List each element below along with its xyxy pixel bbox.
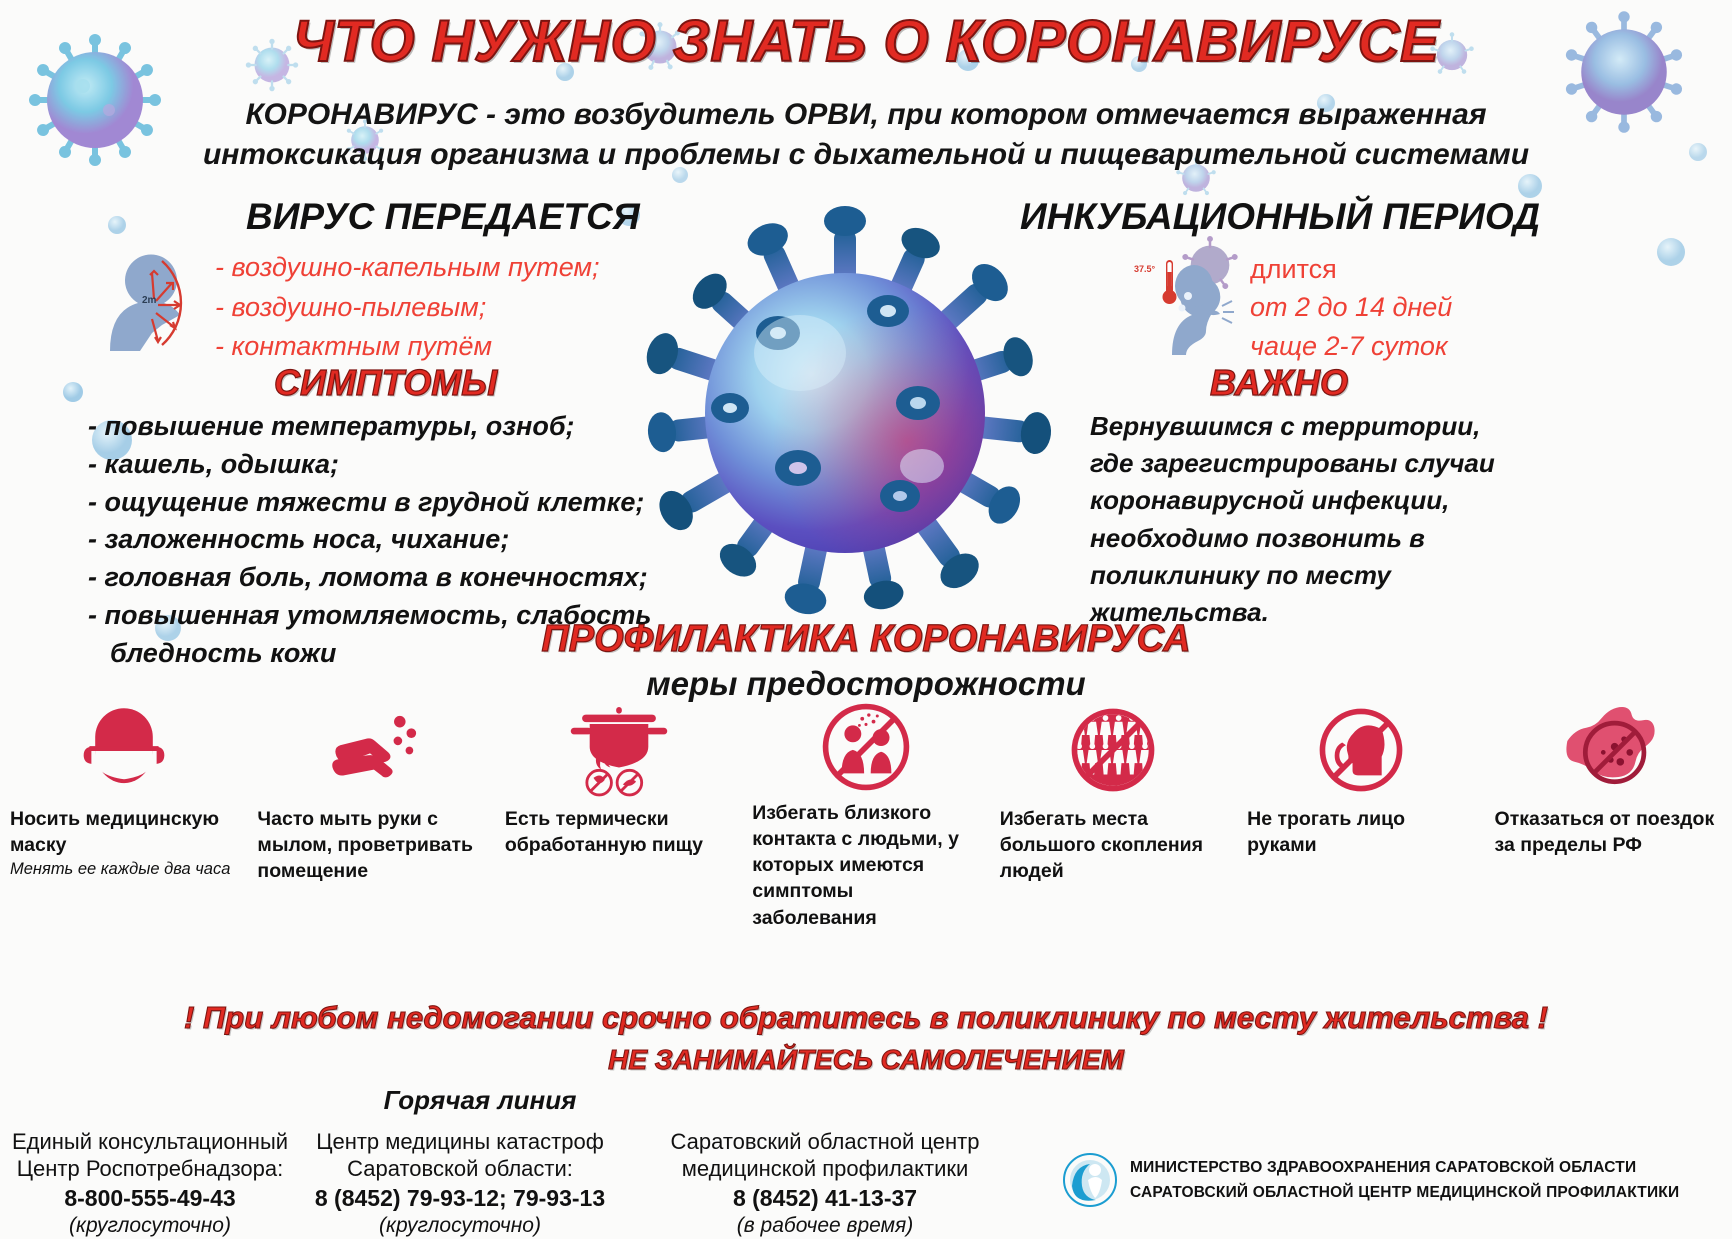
symptom-item: - кашель, одышка; [88,446,651,484]
head-distance-icon: 2m [90,243,215,353]
no-crowds-icon [1066,700,1160,800]
footer-contact-column: Саратовский областной центр медицинской … [640,1128,1010,1239]
footer-phone[interactable]: 8 (8452) 79-93-12; 79-93-13 [290,1184,630,1212]
footer-line: Саратовской области: [290,1155,630,1182]
important-line: Вернувшимся с территории, [1090,408,1495,445]
prevention-subheading: меры предосторожности [0,665,1732,703]
footer-line: Саратовский областной центр [640,1128,1010,1155]
prevention-item: Часто мыть руки с мылом, проветривать по… [247,700,494,900]
prevention-item: Избегать близкого контакта с людьми, у к… [742,700,989,900]
prevention-caption: Часто мыть руки с мылом, проветривать по… [257,806,484,884]
important-text: Вернувшимся с территории, где зарегистри… [1090,408,1495,631]
footer-line: медицинской профилактики [640,1155,1010,1182]
no-touch-face-icon [1314,700,1408,800]
footer-phone[interactable]: 8 (8452) 41-13-37 [640,1184,1010,1212]
transmission-heading: ВИРУС ПЕРЕДАЕТСЯ [246,196,640,238]
footer-note: (в рабочее время) [640,1213,1010,1239]
wash-hands-icon [323,700,419,800]
prevention-caption-sub: Менять ее каждые два часа [10,859,237,880]
poster-root: ЧТО НУЖНО ЗНАТЬ О КОРОНАВИРУСЕ КОРОНАВИР… [0,0,1732,1235]
prevention-icons-row: Носить медицинскую маску Менять ее кажды… [0,700,1732,900]
symptom-item: - заложенность носа, чихание; [88,521,651,559]
intro-line-2: интоксикация организма и проблемы с дыха… [60,135,1672,175]
prevention-caption-wrap: Избегать близкого контакта с людьми, у к… [742,800,989,932]
footer-contact-column: Единый консультационный Центр Роспотребн… [0,1128,300,1239]
prevention-item: Не трогать лицо руками [1237,700,1484,900]
prevention-caption: Есть термически обработанную пищу [505,806,732,858]
symptom-item: - повышение температуры, озноб; [88,408,651,446]
prevention-caption-wrap: Не трогать лицо руками [1237,806,1484,859]
important-heading: ВАЖНО [1210,362,1348,404]
no-close-contact-icon [819,700,913,794]
symptom-item: - головная боль, ломота в конечностях; [88,559,651,597]
incubation-line-1: длится [1250,250,1452,288]
prevention-item: Отказаться от поездок за пределы РФ [1485,700,1732,900]
ministry-logo-icon [1062,1152,1118,1208]
intro-paragraph: КОРОНАВИРУС - это возбудитель ОРВИ, при … [60,95,1672,175]
footer-phone[interactable]: 8-800-555-49-43 [0,1184,300,1212]
important-line: где зарегистрированы случаи [1090,445,1495,482]
footer-line: Центр Роспотребнадзора: [0,1155,300,1182]
prevention-item: Есть термически обработанную пищу [495,700,742,900]
incubation-heading: ИНКУБАЦИОННЫЙ ПЕРИОД [1020,196,1540,238]
prevention-item: Носить медицинскую маску Менять ее кажды… [0,700,247,900]
page-title: ЧТО НУЖНО ЗНАТЬ О КОРОНАВИРУСЕ [0,8,1732,75]
prevention-caption: Отказаться от поездок за пределы РФ [1495,806,1722,858]
prevention-item: Избегать места большого скопления людей [990,700,1237,900]
thermometer-value: 37.5° [1134,264,1156,274]
incubation-line-2: от 2 до 14 дней [1250,288,1452,326]
prevention-caption: Избегать места большого скопления людей [1000,806,1227,884]
footer-line: Центр медицины катастроф [290,1128,630,1155]
warning-line-2: НЕ ЗАНИМАЙТЕСЬ САМОЛЕЧЕНИЕМ [0,1044,1732,1076]
prevention-caption-wrap: Отказаться от поездок за пределы РФ [1485,806,1732,859]
prevention-caption-wrap: Избегать места большого скопления людей [990,806,1237,885]
distance-label: 2m [142,295,157,306]
prevention-caption-wrap: Носить медицинскую маску Менять ее кажды… [0,806,247,881]
face-mask-icon [76,700,172,800]
incubation-text: длится от 2 до 14 дней чаще 2-7 суток [1250,250,1452,365]
footer-note: (круглосуточно) [0,1213,300,1239]
symptom-item: - ощущение тяжести в грудной клетке; [88,484,651,522]
ministry-line-1: МИНИСТЕРСТВО ЗДРАВООХРАНЕНИЯ САРАТОВСКОЙ… [1130,1159,1679,1177]
prevention-caption: Не трогать лицо руками [1247,806,1474,858]
warning-line-1: ! При любом недомогании срочно обратитес… [0,1000,1732,1036]
prevention-caption: Избегать близкого контакта с людьми, у к… [752,800,979,931]
ministry-line-2: САРАТОВСКИЙ ОБЛАСТНОЙ ЦЕНТР МЕДИЦИНСКОЙ … [1130,1184,1679,1202]
important-line: поликлинику по месту [1090,557,1495,594]
no-travel-map-icon [1556,700,1660,800]
footer-contact-column: Центр медицины катастроф Саратовской обл… [290,1128,630,1239]
footer-note: (круглосуточно) [290,1213,630,1239]
incubation-line-3: чаще 2-7 суток [1250,327,1452,365]
coronavirus-illustration [600,178,1090,648]
important-line: необходимо позвонить в [1090,520,1495,557]
transmission-list: - воздушно-капельным путем; - воздушно-п… [215,248,600,367]
prevention-caption-wrap: Есть термически обработанную пищу [495,806,742,859]
hotline-label: Горячая линия [330,1085,630,1116]
transmission-item: - воздушно-капельным путем; [215,248,600,288]
intro-line-1: КОРОНАВИРУС - это возбудитель ОРВИ, при … [60,95,1672,135]
cooked-food-pot-icon [567,700,671,800]
prevention-caption: Носить медицинскую маску [10,806,237,858]
transmission-item: - воздушно-пылевым; [215,288,600,328]
symptoms-heading: СИМПТОМЫ [274,362,497,404]
ministry-block: МИНИСТЕРСТВО ЗДРАВООХРАНЕНИЯ САРАТОВСКОЙ… [1062,1152,1679,1208]
prevention-heading: ПРОФИЛАКТИКА КОРОНАВИРУСА [0,618,1732,661]
prevention-caption-wrap: Часто мыть руки с мылом, проветривать по… [247,806,494,885]
sick-person-thermometer-icon: 37.5° [1110,250,1240,360]
important-line: коронавирусной инфекции, [1090,482,1495,519]
footer-line: Единый консультационный [0,1128,300,1155]
